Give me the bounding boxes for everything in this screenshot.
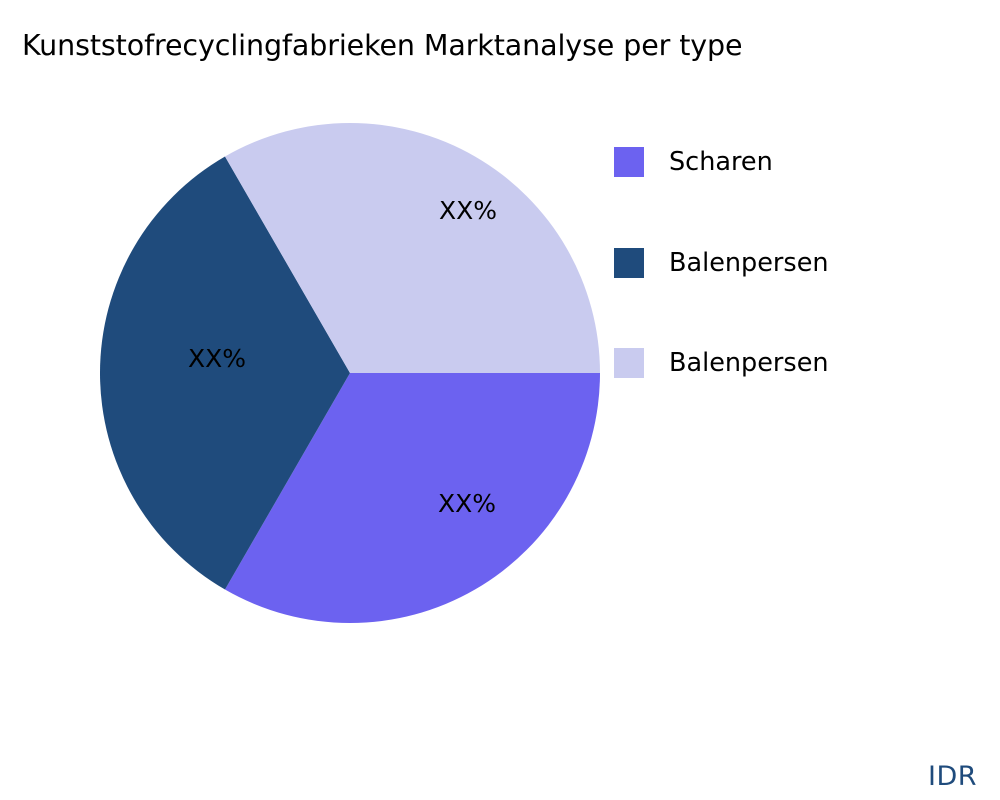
pie-slice-label-2: XX%: [439, 196, 497, 225]
legend-item-0[interactable]: Scharen: [614, 112, 954, 213]
legend-swatch-icon-0: [614, 147, 644, 177]
chart-legend: Scharen Balenpersen Balenpersen: [614, 112, 954, 414]
pie-slice-label-0: XX%: [438, 489, 496, 518]
pie-slice-group: [100, 123, 600, 623]
legend-swatch-icon-2: [614, 348, 644, 378]
legend-item-1[interactable]: Balenpersen: [614, 213, 954, 314]
legend-swatch-icon-1: [614, 248, 644, 278]
legend-item-2[interactable]: Balenpersen: [614, 313, 954, 414]
legend-item-label-0: Scharen: [669, 147, 773, 177]
pie-slice-label-1: XX%: [188, 344, 246, 373]
idr-watermark: IDR: [928, 761, 977, 792]
legend-item-label-2: Balenpersen: [669, 348, 829, 378]
legend-item-label-1: Balenpersen: [669, 248, 829, 278]
